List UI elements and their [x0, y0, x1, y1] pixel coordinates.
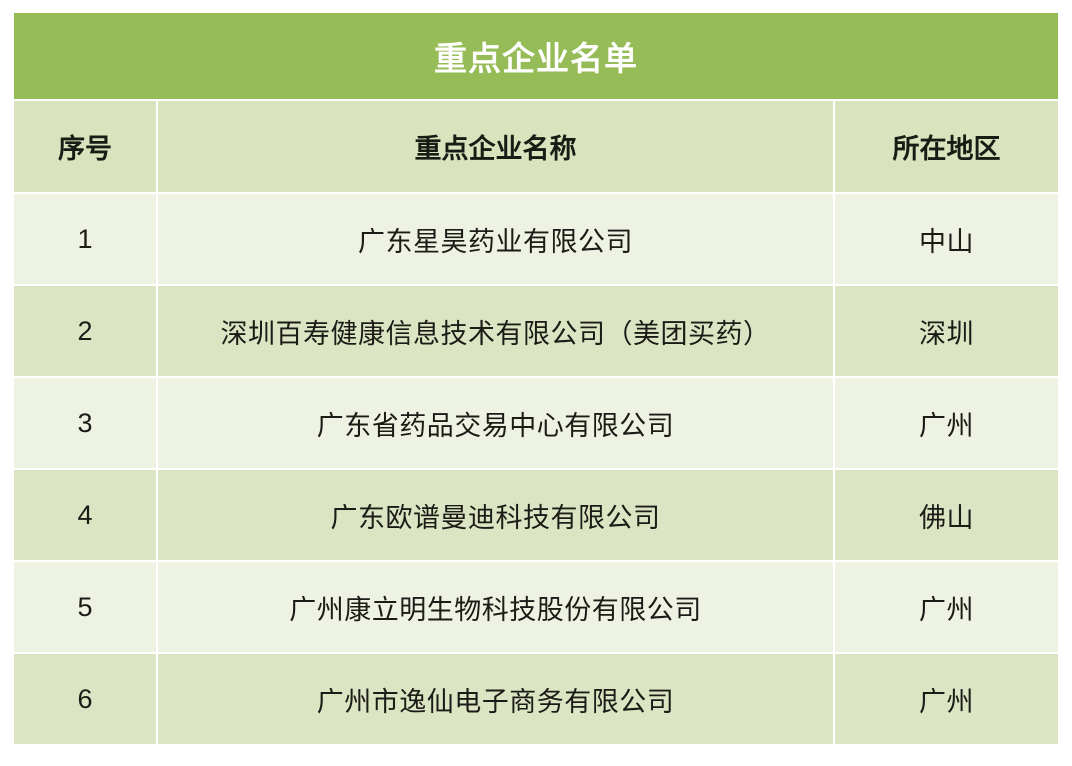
column-header-name: 重点企业名称 — [158, 99, 835, 192]
table-row: 4 广东欧谱曼迪科技有限公司 佛山 — [14, 468, 1058, 560]
table-row: 1 广东星昊药业有限公司 中山 — [14, 192, 1058, 284]
table-head: 重点企业名单 序号 重点企业名称 所在地区 — [14, 13, 1058, 192]
cell-region: 佛山 — [835, 468, 1058, 560]
enterprise-table-container: 重点企业名单 序号 重点企业名称 所在地区 1 广东星昊药业有限公司 中山 2 … — [14, 13, 1058, 744]
enterprise-table: 重点企业名单 序号 重点企业名称 所在地区 1 广东星昊药业有限公司 中山 2 … — [14, 13, 1058, 744]
cell-region: 广州 — [835, 376, 1058, 468]
cell-index: 4 — [14, 468, 158, 560]
table-row: 6 广州市逸仙电子商务有限公司 广州 — [14, 652, 1058, 744]
table-row: 2 深圳百寿健康信息技术有限公司（美团买药） 深圳 — [14, 284, 1058, 376]
column-header-index: 序号 — [14, 99, 158, 192]
table-title-row: 重点企业名单 — [14, 13, 1058, 99]
cell-index: 5 — [14, 560, 158, 652]
cell-region: 广州 — [835, 652, 1058, 744]
table-body: 1 广东星昊药业有限公司 中山 2 深圳百寿健康信息技术有限公司（美团买药） 深… — [14, 192, 1058, 744]
cell-name: 广东星昊药业有限公司 — [158, 192, 835, 284]
page-root: 重点企业名单 序号 重点企业名称 所在地区 1 广东星昊药业有限公司 中山 2 … — [0, 0, 1072, 766]
cell-name: 深圳百寿健康信息技术有限公司（美团买药） — [158, 284, 835, 376]
cell-index: 6 — [14, 652, 158, 744]
column-header-region: 所在地区 — [835, 99, 1058, 192]
table-title: 重点企业名单 — [14, 13, 1058, 99]
cell-name: 广州市逸仙电子商务有限公司 — [158, 652, 835, 744]
table-column-header-row: 序号 重点企业名称 所在地区 — [14, 99, 1058, 192]
table-row: 3 广东省药品交易中心有限公司 广州 — [14, 376, 1058, 468]
table-row: 5 广州康立明生物科技股份有限公司 广州 — [14, 560, 1058, 652]
cell-name: 广州康立明生物科技股份有限公司 — [158, 560, 835, 652]
cell-index: 3 — [14, 376, 158, 468]
cell-region: 中山 — [835, 192, 1058, 284]
cell-index: 1 — [14, 192, 158, 284]
cell-index: 2 — [14, 284, 158, 376]
cell-name: 广东省药品交易中心有限公司 — [158, 376, 835, 468]
cell-region: 广州 — [835, 560, 1058, 652]
cell-name: 广东欧谱曼迪科技有限公司 — [158, 468, 835, 560]
cell-region: 深圳 — [835, 284, 1058, 376]
